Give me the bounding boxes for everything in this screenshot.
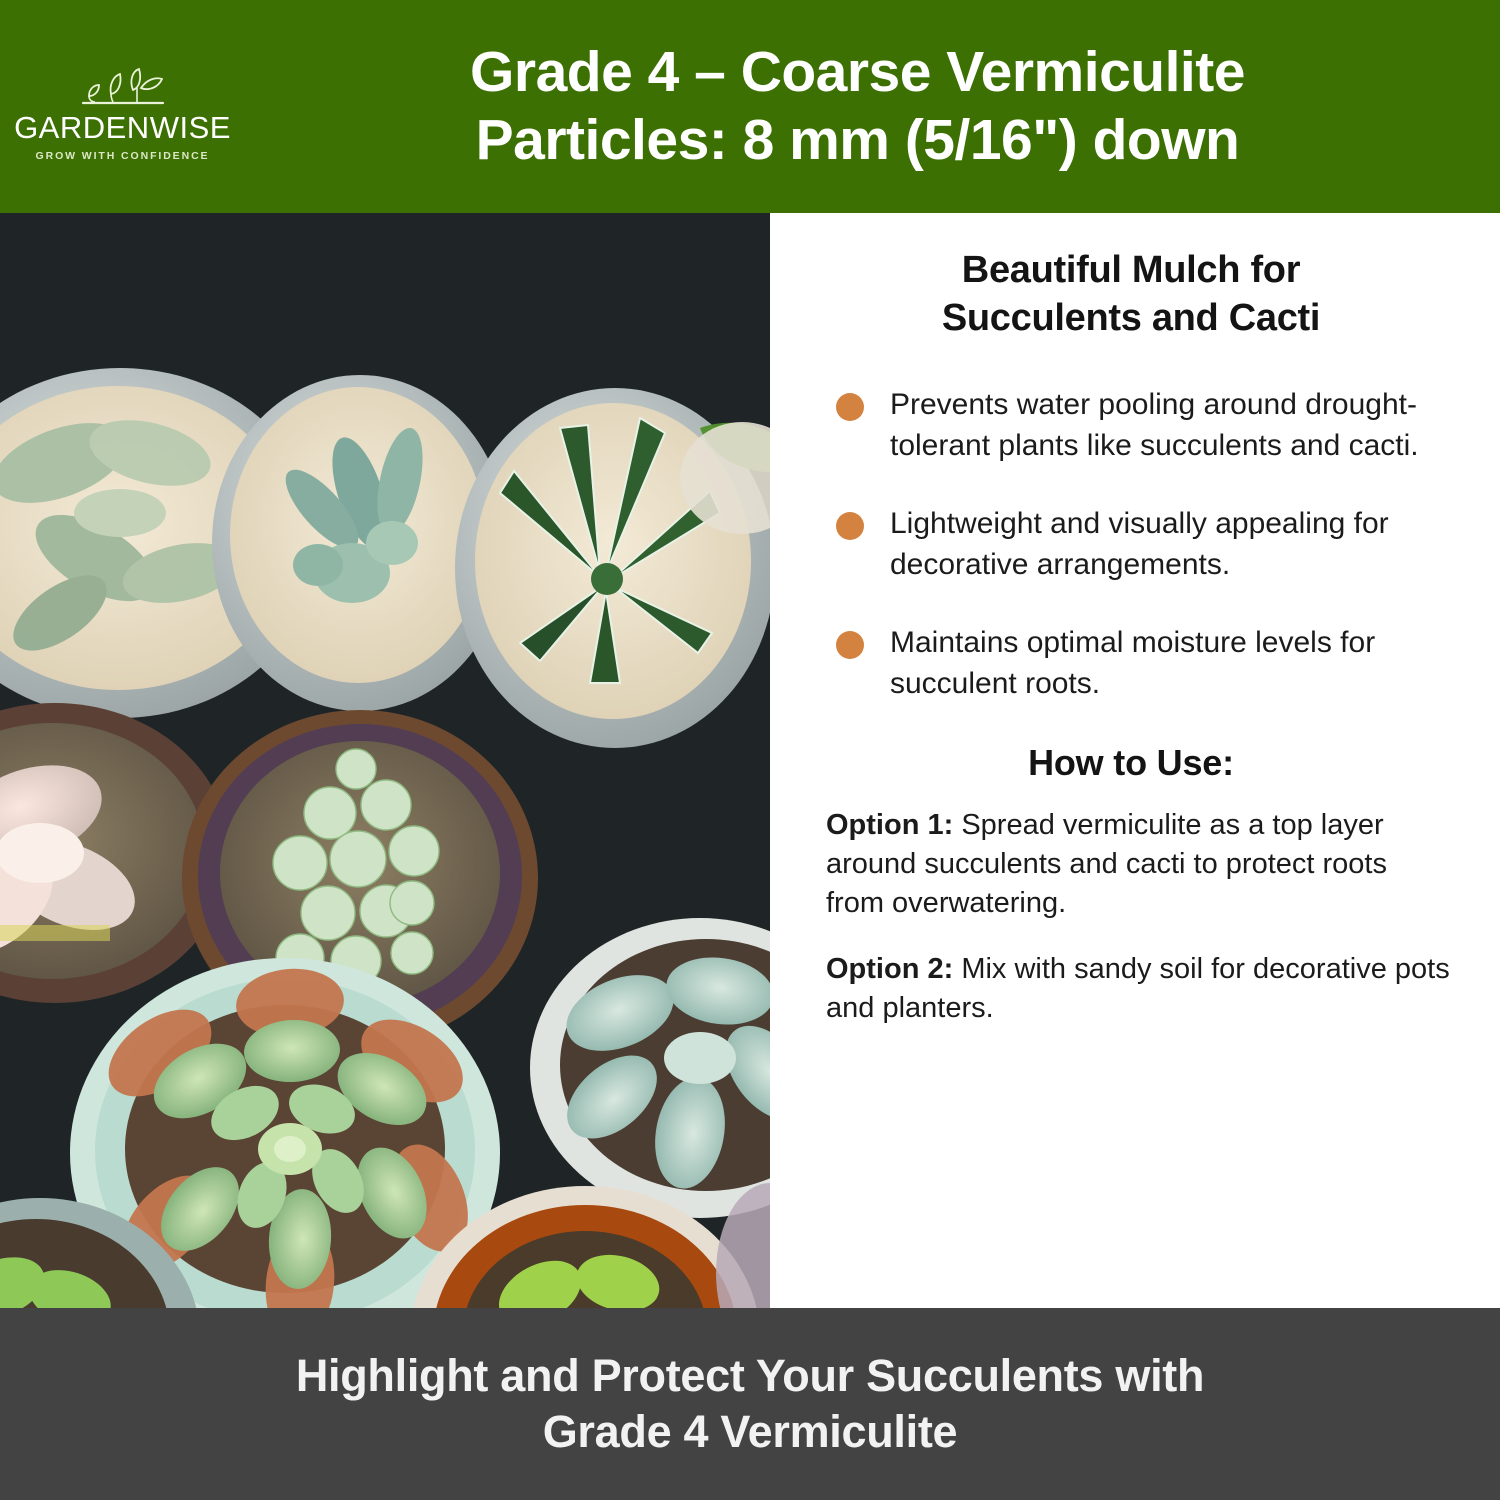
footer-banner: Highlight and Protect Your Succulents wi… (0, 1308, 1500, 1500)
header-title: Grade 4 – Coarse Vermiculite Particles: … (245, 39, 1500, 175)
brand-tagline: GROW WITH CONFIDENCE (36, 150, 210, 162)
benefit-text: Prevents water pooling around drought-to… (890, 384, 1460, 466)
how-to-use-heading: How to Use: (800, 742, 1462, 784)
list-item: Maintains optimal moisture levels for su… (800, 622, 1462, 704)
brand-logo: GARDENWISE GROW WITH CONFIDENCE (0, 52, 245, 162)
list-item: Prevents water pooling around drought-to… (800, 384, 1462, 466)
panel-heading-line-2: Succulents and Cacti (800, 295, 1462, 343)
benefits-list: Prevents water pooling around drought-to… (800, 384, 1462, 705)
bullet-dot-icon (836, 512, 864, 540)
panel-heading: Beautiful Mulch for Succulents and Cacti (800, 247, 1462, 342)
brand-name: GARDENWISE (14, 112, 231, 143)
option-2: Option 2: Mix with sandy soil for decora… (800, 950, 1450, 1029)
footer-line-1: Highlight and Protect Your Succulents wi… (296, 1348, 1204, 1404)
benefit-text: Lightweight and visually appealing for d… (890, 503, 1460, 585)
option-1: Option 1: Spread vermiculite as a top la… (800, 806, 1450, 924)
list-item: Lightweight and visually appealing for d… (800, 503, 1462, 585)
option-2-label: Option 2: (826, 953, 953, 985)
footer-text: Highlight and Protect Your Succulents wi… (296, 1348, 1204, 1461)
succulents-photo (0, 213, 770, 1308)
info-panel: Beautiful Mulch for Succulents and Cacti… (770, 213, 1500, 1308)
bullet-dot-icon (836, 631, 864, 659)
sprout-leaves-icon (75, 64, 171, 110)
option-1-label: Option 1: (826, 809, 953, 841)
benefit-text: Maintains optimal moisture levels for su… (890, 622, 1460, 704)
footer-line-2: Grade 4 Vermiculite (296, 1404, 1204, 1460)
header-banner: GARDENWISE GROW WITH CONFIDENCE Grade 4 … (0, 0, 1500, 213)
infographic-page: GARDENWISE GROW WITH CONFIDENCE Grade 4 … (0, 0, 1500, 1500)
header-title-line-1: Grade 4 – Coarse Vermiculite (245, 39, 1470, 107)
bullet-dot-icon (836, 393, 864, 421)
panel-heading-line-1: Beautiful Mulch for (800, 247, 1462, 295)
header-title-line-2: Particles: 8 mm (5/16") down (245, 107, 1470, 175)
